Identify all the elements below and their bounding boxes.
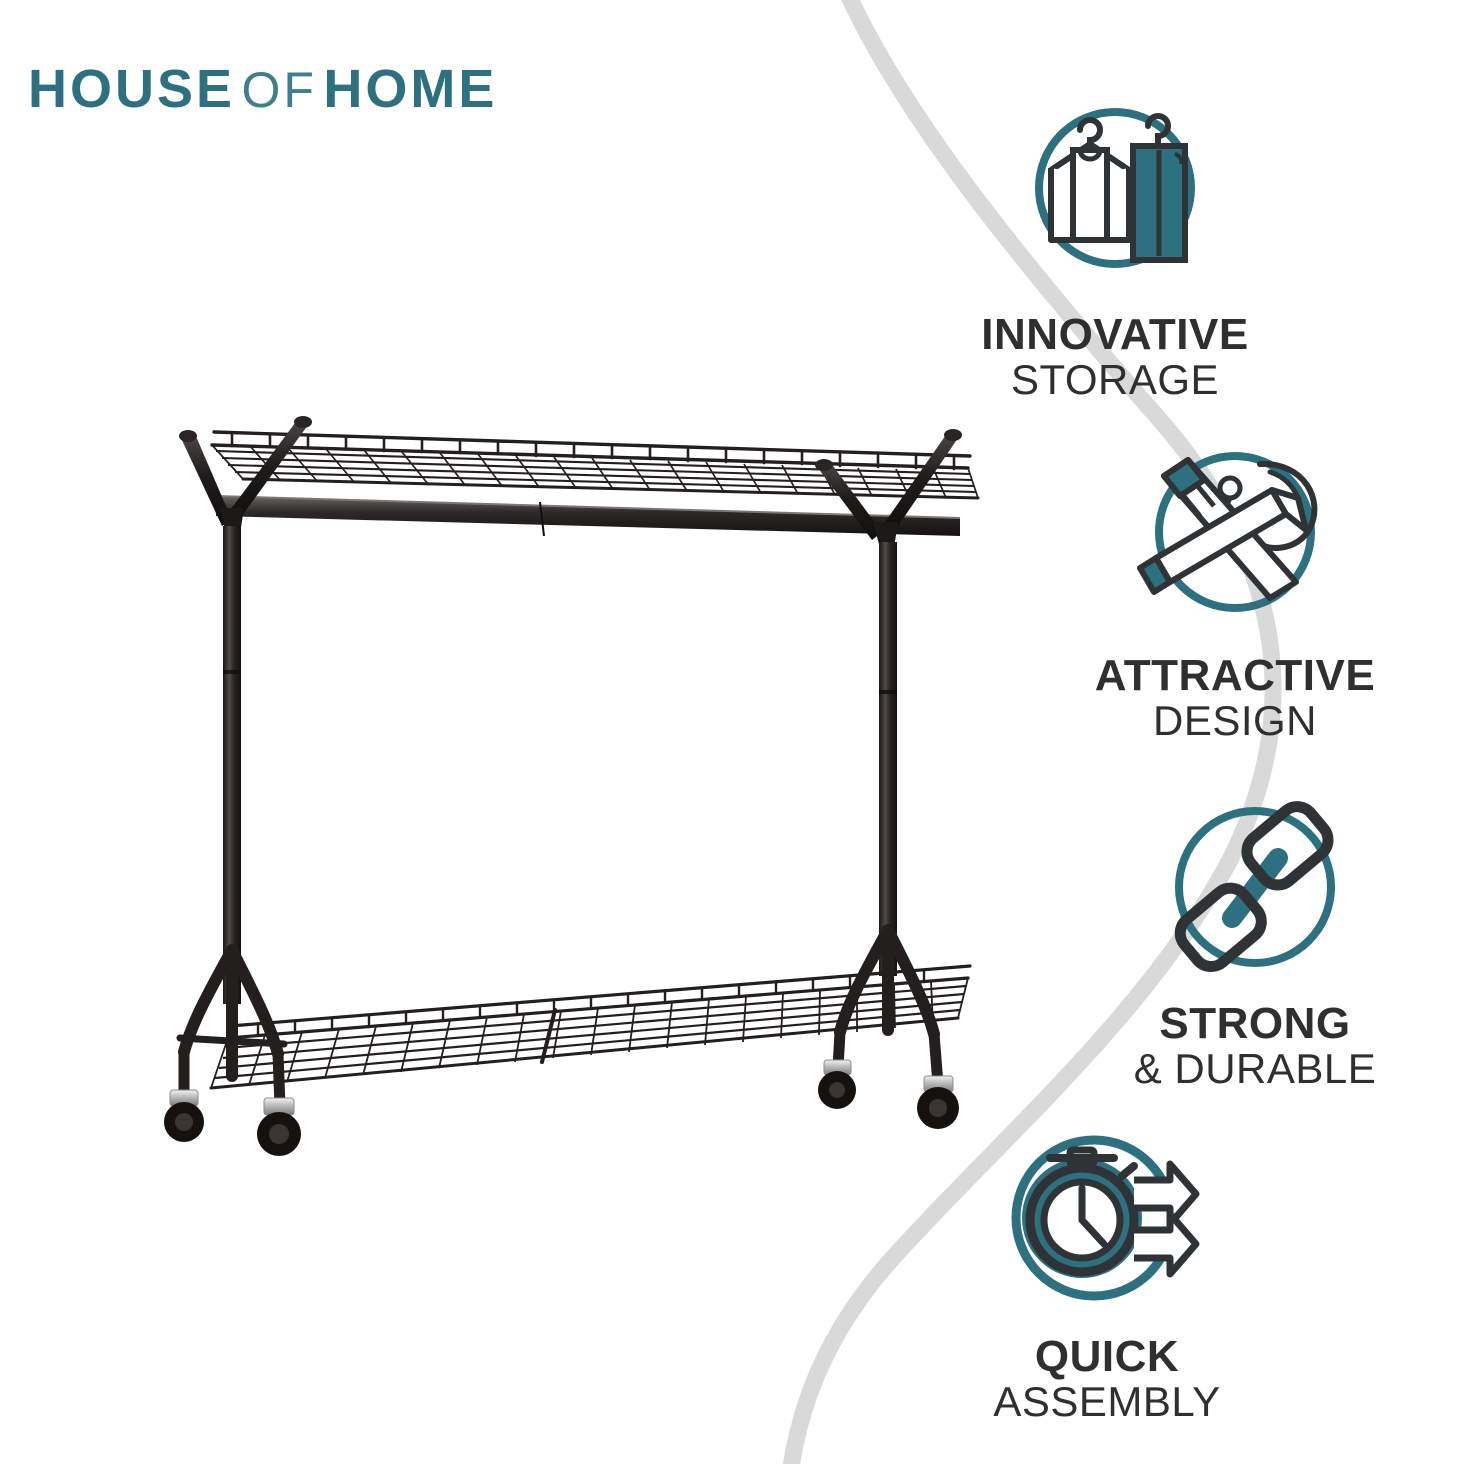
upright-post-left <box>223 526 241 1004</box>
feature-label-line1: INNOVATIVE <box>880 312 1350 358</box>
feature-strong-durable: STRONG & DURABLE <box>1020 790 1464 1091</box>
brand-word-of: OF <box>242 62 317 118</box>
brand-logo: HOUSE OF HOME <box>28 58 497 120</box>
feature-label-line2: DESIGN <box>1000 699 1464 744</box>
feature-label-line2: ASSEMBLY <box>872 1380 1342 1425</box>
upright-post-right <box>879 542 897 976</box>
feature-label-line1: QUICK <box>872 1334 1342 1380</box>
brand-word-house: HOUSE <box>28 59 235 119</box>
feature-label-line2: & DURABLE <box>1020 1047 1464 1092</box>
brand-word-home: HOME <box>323 59 497 119</box>
a-frame-leg-right <box>838 930 938 1084</box>
feature-label-line1: STRONG <box>1020 1001 1464 1047</box>
feature-innovative-storage: INNOVATIVE STORAGE <box>880 88 1350 402</box>
product-image-clothes-rail <box>140 390 1040 1220</box>
infographic-page: HOUSE OF HOME <box>0 0 1464 1464</box>
feature-label-line1: ATTRACTIVE <box>1000 653 1464 699</box>
stopwatch-arrows-icon <box>982 1118 1232 1328</box>
pen-and-pencil-design-icon <box>1110 432 1360 647</box>
clothes-on-hangers-icon <box>985 88 1245 306</box>
feature-attractive-design: ATTRACTIVE DESIGN <box>1000 432 1464 743</box>
feature-quick-assembly: QUICK ASSEMBLY <box>872 1118 1342 1424</box>
feature-label-line2: STORAGE <box>880 358 1350 403</box>
top-wire-shelf <box>212 432 978 498</box>
chain-link-icon <box>1138 790 1373 995</box>
